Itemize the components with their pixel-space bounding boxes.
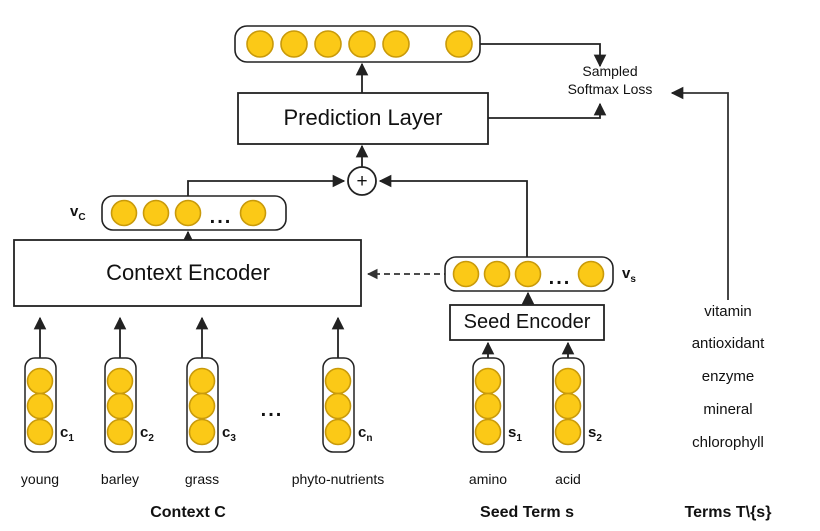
c3-node bbox=[190, 420, 215, 445]
s2-node bbox=[556, 369, 581, 394]
c1-subscript: 1 bbox=[68, 433, 74, 444]
cn-node bbox=[326, 369, 351, 394]
sampled-softmax-loss-label: Sampled Softmax Loss bbox=[550, 63, 670, 98]
vs-node bbox=[516, 262, 541, 287]
context-word-2: barley bbox=[101, 472, 139, 486]
cn-node bbox=[326, 420, 351, 445]
term-item-1: vitamin bbox=[704, 304, 752, 319]
vc-node bbox=[144, 201, 169, 226]
plus-sign-label: + bbox=[356, 172, 367, 191]
vs-node bbox=[579, 262, 604, 287]
context-caption: Context C bbox=[150, 505, 226, 521]
c1-vector-label: c1 bbox=[60, 425, 74, 444]
vc-vector-group bbox=[102, 196, 286, 230]
context-columns-group bbox=[25, 318, 354, 452]
term-item-2: antioxidant bbox=[692, 336, 765, 351]
c3-node bbox=[190, 369, 215, 394]
s2-node bbox=[556, 394, 581, 419]
vs-node bbox=[485, 262, 510, 287]
s2-node bbox=[556, 420, 581, 445]
c3-subscript: 3 bbox=[230, 433, 236, 444]
c3-node bbox=[190, 394, 215, 419]
output-node bbox=[383, 31, 409, 57]
output-node bbox=[247, 31, 273, 57]
seed-word-1: amino bbox=[469, 472, 507, 486]
output-node bbox=[446, 31, 472, 57]
seed-word-2: acid bbox=[555, 472, 581, 486]
cn-node bbox=[326, 394, 351, 419]
edge-terms-to-loss bbox=[672, 93, 728, 300]
loss-line-2: Softmax Loss bbox=[550, 81, 670, 99]
vc-node bbox=[176, 201, 201, 226]
s1-subscript: 1 bbox=[516, 433, 522, 444]
terms-caption: Terms T\{s} bbox=[685, 505, 772, 521]
c2-vector-label: c2 bbox=[140, 425, 154, 444]
context-columns-ellipsis: ... bbox=[261, 400, 284, 420]
vc-node bbox=[241, 201, 266, 226]
c2-node bbox=[108, 369, 133, 394]
seed-caption: Seed Term s bbox=[480, 505, 574, 521]
c3-vector-label: c3 bbox=[222, 425, 236, 444]
context-word-n: phyto-nutrients bbox=[292, 472, 385, 486]
s2-vector-label: s2 bbox=[588, 425, 602, 444]
output-vector-group bbox=[235, 26, 480, 62]
vc-ellipsis: ... bbox=[210, 207, 233, 227]
output-node bbox=[349, 31, 375, 57]
context-word-1: young bbox=[21, 472, 59, 486]
s1-node bbox=[476, 369, 501, 394]
cn-vector-label: cn bbox=[358, 425, 372, 444]
seed-encoder-label: Seed Encoder bbox=[464, 312, 591, 332]
c1-node bbox=[28, 420, 53, 445]
context-encoder-label: Context Encoder bbox=[106, 262, 270, 284]
c2-subscript: 2 bbox=[148, 433, 154, 444]
vc-label: vC bbox=[70, 204, 86, 223]
s2-subscript: 2 bbox=[596, 433, 602, 444]
term-item-4: mineral bbox=[703, 402, 752, 417]
output-node bbox=[281, 31, 307, 57]
vs-vector-group bbox=[445, 257, 613, 291]
term-item-3: enzyme bbox=[702, 369, 755, 384]
term-item-5: chlorophyll bbox=[692, 435, 764, 450]
vs-label: vs bbox=[622, 266, 636, 285]
edge-vs-to-plus bbox=[380, 181, 527, 260]
c2-node bbox=[108, 420, 133, 445]
c2-node bbox=[108, 394, 133, 419]
c1-node bbox=[28, 394, 53, 419]
seed-columns-group bbox=[473, 343, 584, 452]
vs-subscript: s bbox=[630, 274, 636, 285]
edge-prediction-to-loss bbox=[488, 104, 600, 118]
output-node bbox=[315, 31, 341, 57]
vc-subscript: C bbox=[78, 212, 85, 223]
c1-node bbox=[28, 369, 53, 394]
s1-node bbox=[476, 394, 501, 419]
vc-node bbox=[112, 201, 137, 226]
s1-vector-label: s1 bbox=[508, 425, 522, 444]
vs-ellipsis: ... bbox=[549, 268, 572, 288]
context-word-3: grass bbox=[185, 472, 219, 486]
loss-line-1: Sampled bbox=[550, 63, 670, 81]
cn-subscript: n bbox=[366, 433, 372, 444]
vs-node bbox=[454, 262, 479, 287]
s1-node bbox=[476, 420, 501, 445]
prediction-layer-label: Prediction Layer bbox=[284, 107, 443, 129]
